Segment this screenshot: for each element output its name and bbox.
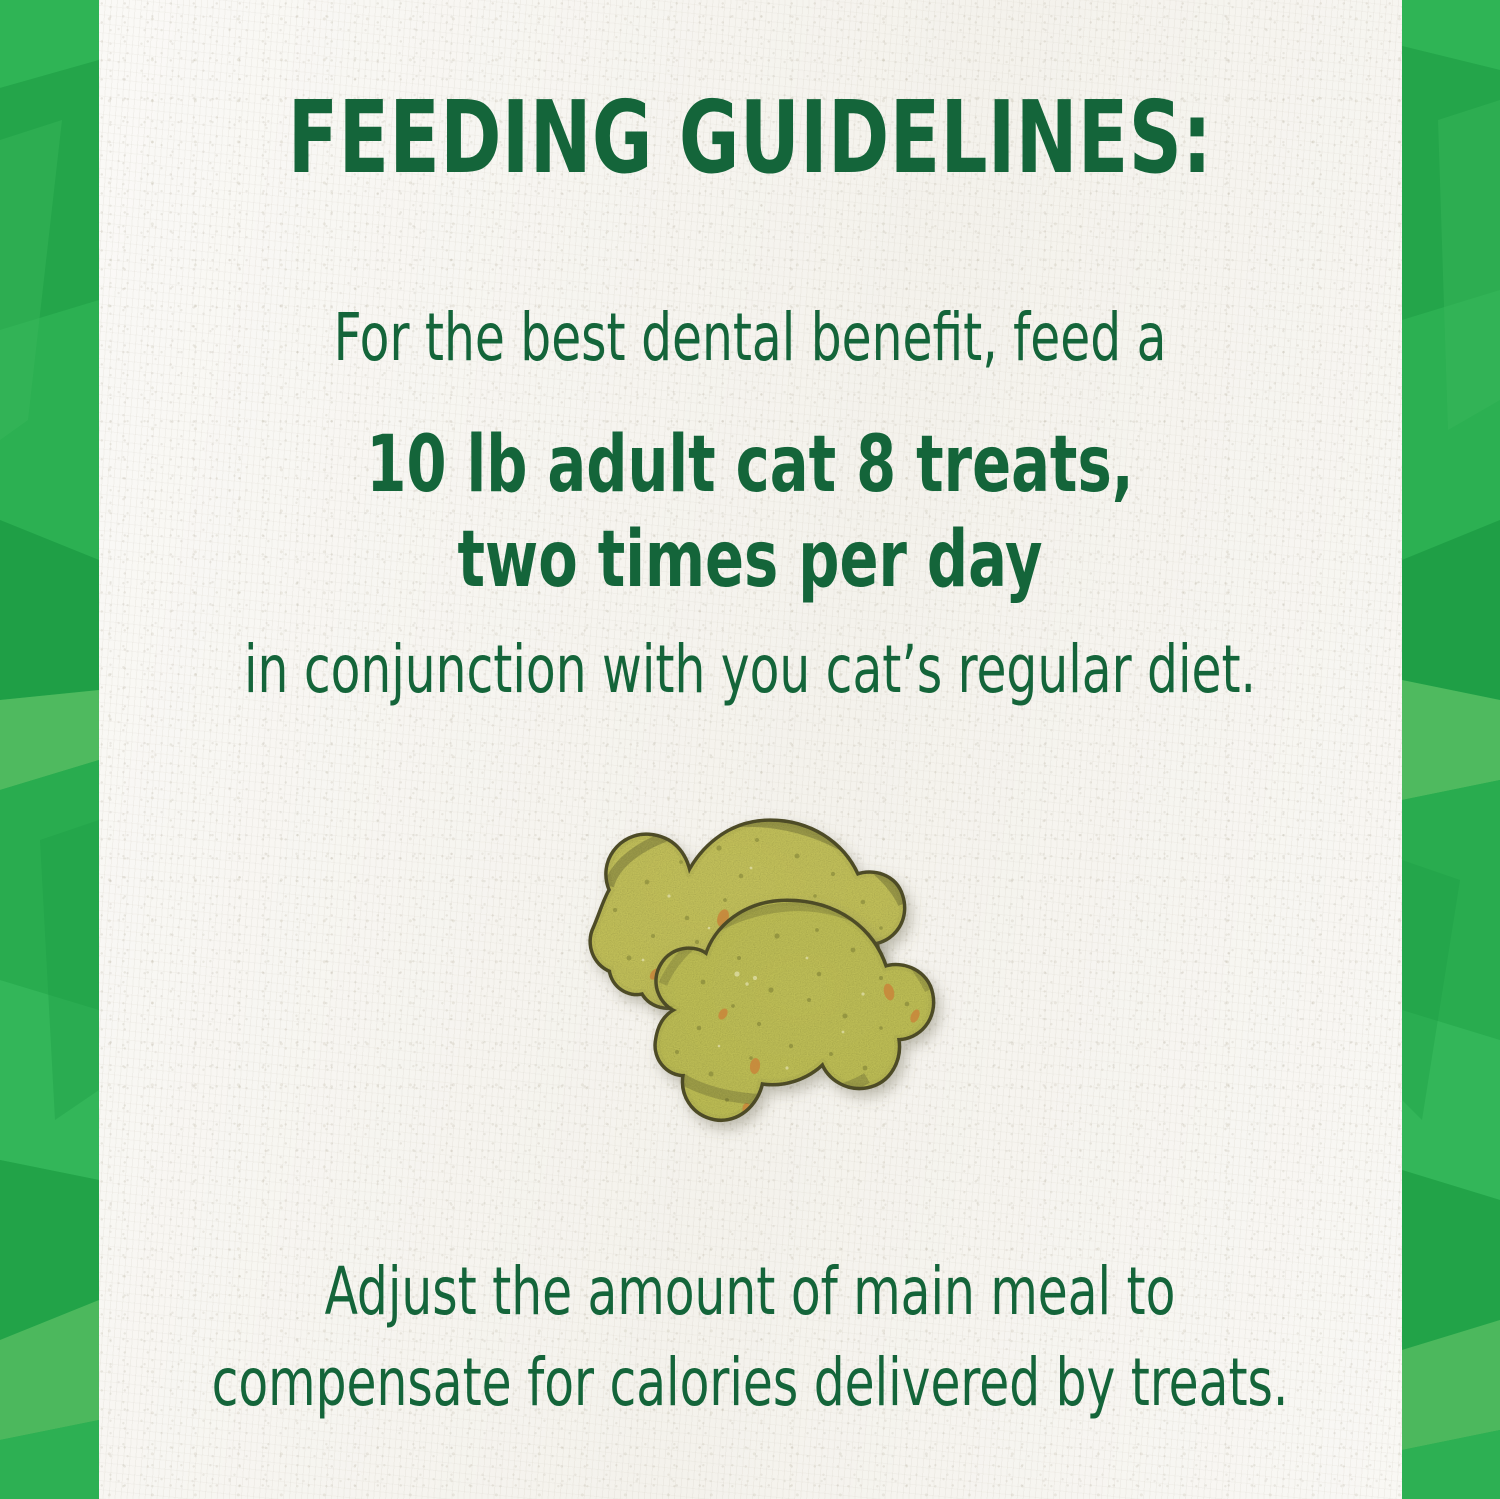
- footer-note-text: Adjust the amount of main meal to compen…: [135, 1246, 1365, 1428]
- tail-instruction-text: in conjunction with you cat’s regular di…: [135, 636, 1365, 705]
- package-panel-feeding-guidelines: FEEDING GUIDELINES: For the best dental …: [0, 0, 1500, 1499]
- lead-instruction-text: For the best dental benefit, feed a: [135, 304, 1365, 373]
- footer-line-2: compensate for calories delivered by tre…: [135, 1337, 1365, 1428]
- footer-line-1: Adjust the amount of main meal to: [135, 1246, 1365, 1337]
- right-green-panel: [1402, 0, 1500, 1499]
- dosage-line-1: 10 lb adult cat 8 treats,: [135, 418, 1365, 513]
- dosage-line-2: two times per day: [135, 513, 1365, 608]
- content-area: FEEDING GUIDELINES: For the best dental …: [0, 0, 1500, 1499]
- right-panel-facets: [1402, 0, 1500, 1499]
- page-title: FEEDING GUIDELINES:: [135, 86, 1365, 190]
- cat-shaped-dental-treats-image: [551, 778, 971, 1168]
- treat-illustration-svg: [551, 778, 971, 1168]
- emphasised-dosage-text: 10 lb adult cat 8 treats, two times per …: [135, 418, 1365, 608]
